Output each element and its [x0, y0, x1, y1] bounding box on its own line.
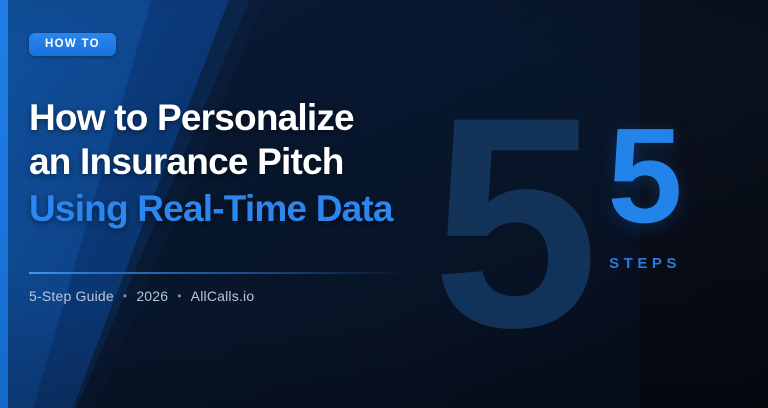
- meta-guide: 5-Step Guide: [29, 288, 114, 304]
- steps-count: 5: [588, 108, 698, 243]
- how-to-badge: HOW TO: [29, 33, 116, 56]
- how-to-banner: 5 HOW TO How to Personalize an Insurance…: [0, 0, 768, 408]
- meta-separator-1: •: [114, 289, 136, 303]
- meta-year: 2026: [136, 288, 168, 304]
- content-column: HOW TO How to Personalize an Insurance P…: [29, 0, 549, 408]
- title-divider: [29, 272, 411, 274]
- page-title: How to Personalize an Insurance Pitch Us…: [29, 96, 393, 231]
- headline-line-3-accent: Using Real-Time Data: [29, 187, 393, 231]
- meta-brand: AllCalls.io: [191, 288, 255, 304]
- steps-badge: 5 STEPS: [588, 108, 698, 272]
- steps-label: STEPS: [588, 255, 698, 272]
- headline-line-2: an Insurance Pitch: [29, 140, 393, 184]
- meta-separator-2: •: [168, 289, 190, 303]
- meta-line: 5-Step Guide•2026•AllCalls.io: [29, 288, 254, 304]
- left-accent-rail: [0, 0, 8, 408]
- headline-line-1: How to Personalize: [29, 96, 393, 140]
